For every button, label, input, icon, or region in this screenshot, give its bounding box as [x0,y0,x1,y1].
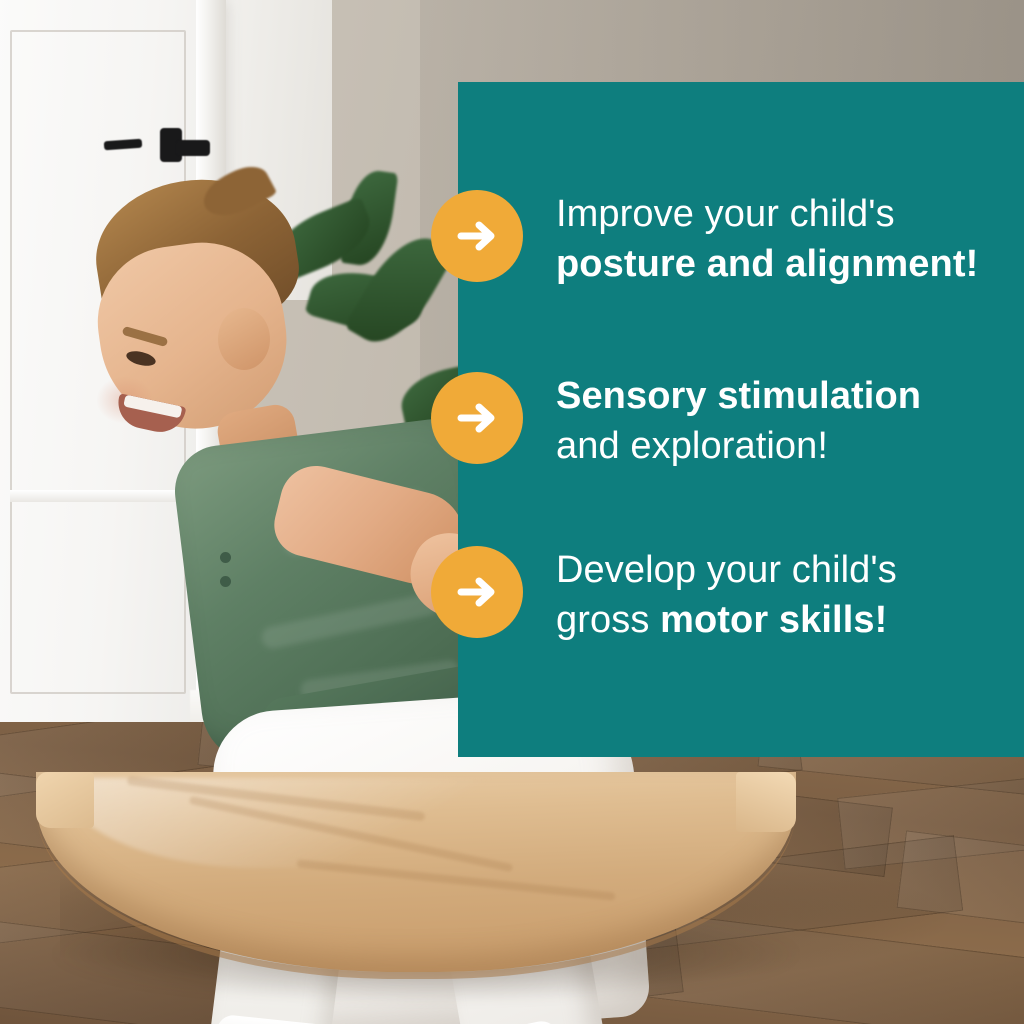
arrow-right-icon [431,372,523,464]
balance-board-left-tip [36,772,94,828]
promo-image-canvas: Improve your child's posture and alignme… [0,0,1024,1024]
child-ear [218,308,270,370]
benefit-1-line-2-bold: posture and alignment! [556,243,978,285]
wooden-balance-board [36,772,796,982]
benefit-3-line-2-bold: motor skills! [660,599,887,641]
arrow-right-icon [431,546,523,638]
benefit-2-line-1-bold: Sensory stimulation [556,375,921,417]
benefit-3-line-1: Develop your child's [556,545,897,595]
benefit-2-line-2: and exploration! [556,421,828,471]
benefit-3-line-2-regular: gross [556,599,660,641]
benefit-1-line-2: posture and alignment! [556,239,978,289]
door-latch [176,140,210,156]
balance-board-right-tip [736,772,796,832]
benefit-1-line-1: Improve your child's [556,189,895,239]
tshirt-buttons [220,552,231,563]
benefit-3-line-2: gross motor skills! [556,595,887,645]
benefit-2-line-1: Sensory stimulation [556,371,921,421]
arrow-right-icon [431,190,523,282]
